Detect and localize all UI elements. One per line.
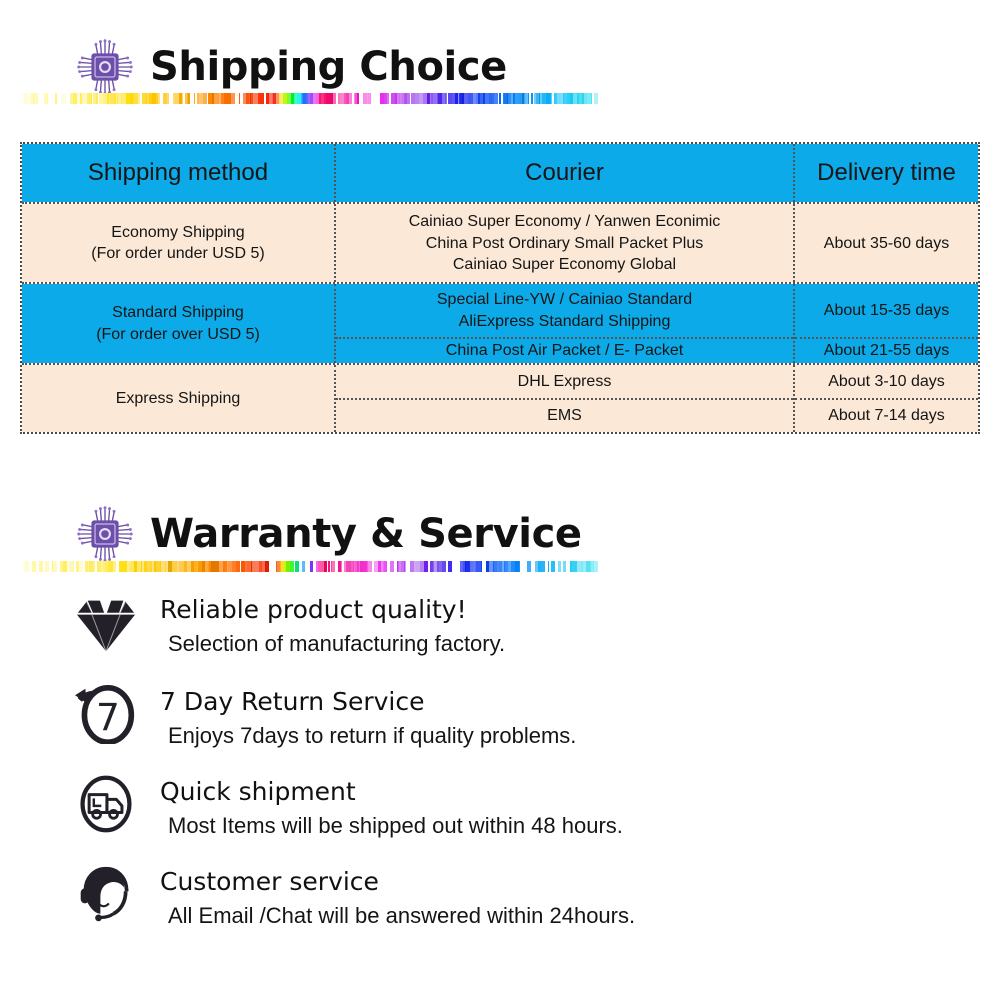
method-line-1: Economy Shipping	[91, 222, 264, 243]
rainbow-divider-top	[20, 93, 598, 104]
cpu-chip-icon	[76, 38, 134, 96]
delivery-subcell: About 21-55 days	[795, 337, 978, 363]
feature-text: Customer service All Email /Chat will be…	[160, 864, 635, 929]
shipping-table: Shipping method Courier Delivery time Ec…	[20, 142, 980, 434]
courier-line: Special Line-YW / Cainiao Standard	[437, 289, 692, 310]
table-header-row: Shipping method Courier Delivery time	[22, 144, 978, 202]
feature-title: 7 Day Return Service	[160, 688, 576, 716]
delivery-subcell: About 7-14 days	[795, 398, 978, 432]
method-line-1: Express Shipping	[116, 388, 241, 409]
feature-subtitle: All Email /Chat will be answered within …	[168, 903, 635, 929]
list-item: Quick shipment Most Items will be shippe…	[70, 774, 970, 840]
page-title: Shipping Choice	[150, 44, 507, 90]
promo-page: Shipping Choice Shipping method Courier …	[0, 0, 1000, 1000]
delivery-cell-standard: About 15-35 days About 21-55 days	[795, 284, 978, 363]
seven-day-return-icon: 7	[70, 684, 142, 750]
list-item: Reliable product quality! Selection of m…	[70, 594, 970, 660]
feature-title: Quick shipment	[160, 778, 623, 806]
warranty-section-header: Warranty & Service	[76, 505, 582, 563]
courier-line: Cainiao Super Economy / Yanwen Econimic	[409, 211, 721, 232]
table-row: Express Shipping DHL Express EMS About 3…	[22, 363, 978, 432]
feature-text: Quick shipment Most Items will be shippe…	[160, 774, 623, 839]
feature-text: 7 Day Return Service Enjoys 7days to ret…	[160, 684, 576, 749]
feature-text: Reliable product quality! Selection of m…	[160, 594, 505, 657]
column-header-courier: Courier	[336, 144, 795, 202]
courier-subcell: Special Line-YW / Cainiao Standard AliEx…	[336, 284, 793, 337]
cpu-chip-icon	[76, 505, 134, 563]
courier-cell-standard: Special Line-YW / Cainiao Standard AliEx…	[336, 284, 795, 363]
feature-title: Reliable product quality!	[160, 596, 505, 624]
feature-subtitle: Selection of manufacturing factory.	[168, 631, 505, 657]
feature-subtitle: Enjoys 7days to return if quality proble…	[168, 723, 576, 749]
delivery-subcell: About 15-35 days	[795, 284, 978, 337]
method-cell-express: Express Shipping	[22, 365, 336, 432]
courier-subcell: DHL Express	[336, 365, 793, 398]
diamond-icon	[70, 594, 142, 660]
svg-text:7: 7	[96, 695, 120, 739]
method-line-2: (For order over USD 5)	[96, 324, 260, 345]
rainbow-divider-bottom	[20, 561, 598, 572]
courier-line: AliExpress Standard Shipping	[437, 311, 692, 332]
section-title-warranty: Warranty & Service	[150, 511, 582, 557]
courier-cell-express: DHL Express EMS	[336, 365, 795, 432]
shipping-section-header: Shipping Choice	[76, 38, 507, 96]
delivery-truck-icon	[70, 774, 142, 840]
method-cell-economy: Economy Shipping (For order under USD 5)	[22, 204, 336, 282]
courier-cell-economy: Cainiao Super Economy / Yanwen Econimic …	[336, 204, 795, 282]
delivery-subcell: About 3-10 days	[795, 365, 978, 398]
list-item: Customer service All Email /Chat will be…	[70, 864, 970, 930]
feature-title: Customer service	[160, 868, 635, 896]
table-row: Economy Shipping (For order under USD 5)…	[22, 202, 978, 282]
courier-line: Cainiao Super Economy Global	[409, 254, 721, 275]
courier-subcell: China Post Air Packet / E- Packet	[336, 337, 793, 363]
method-cell-standard: Standard Shipping (For order over USD 5)	[22, 284, 336, 363]
method-line-2: (For order under USD 5)	[91, 243, 264, 264]
delivery-cell-express: About 3-10 days About 7-14 days	[795, 365, 978, 432]
column-header-delivery-time: Delivery time	[795, 144, 978, 202]
column-header-shipping-method: Shipping method	[22, 144, 336, 202]
courier-line: China Post Ordinary Small Packet Plus	[409, 233, 721, 254]
method-line-1: Standard Shipping	[96, 302, 260, 323]
table-row: Standard Shipping (For order over USD 5)…	[22, 282, 978, 363]
delivery-cell-economy: About 35-60 days	[795, 204, 978, 282]
feature-subtitle: Most Items will be shipped out within 48…	[168, 813, 623, 839]
headset-support-icon	[70, 864, 142, 930]
courier-subcell: EMS	[336, 398, 793, 432]
list-item: 7 7 Day Return Service Enjoys 7days to r…	[70, 684, 970, 750]
feature-list: Reliable product quality! Selection of m…	[70, 594, 970, 954]
